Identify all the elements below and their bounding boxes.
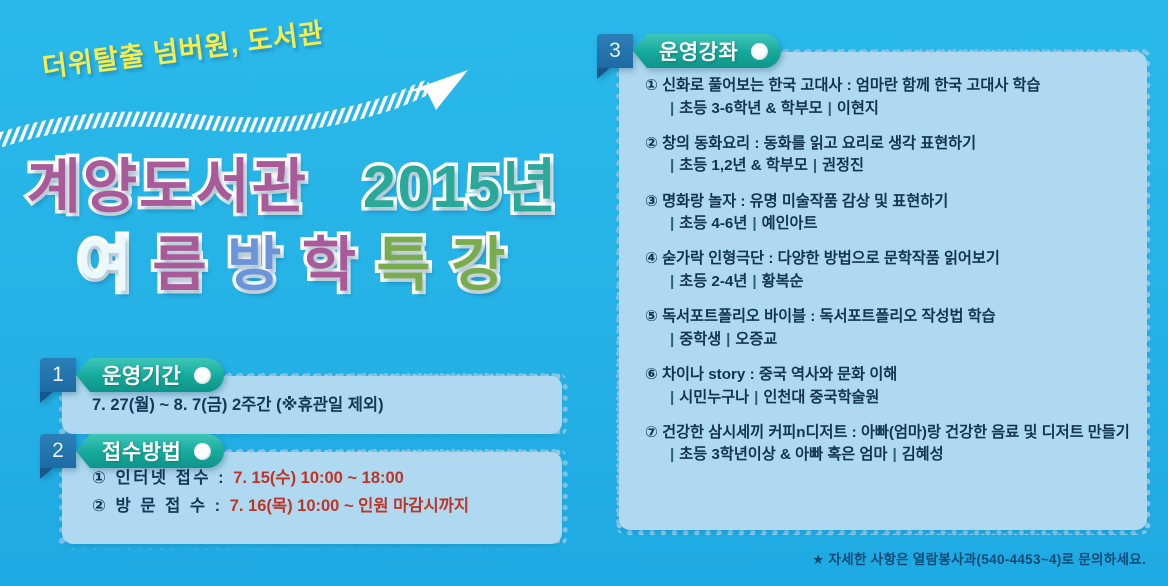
badge-dot-icon [194,367,211,384]
badge-dot-icon [194,443,211,460]
course-meta: |시민누구나|인천대 중국학술원 [645,386,1133,410]
separator-bar-icon: | [823,100,837,117]
course-title: ④ 숟가락 인형극단 : 다양한 방법으로 문학작품 읽어보기 [645,249,1133,270]
registration-label-visit: ② 방 문 접 수 : [92,497,230,515]
separator-bar-icon: | [665,446,679,463]
title-char-3: 방 [227,228,283,304]
course-audience: 초등 1,2년 & 학부모 [679,157,808,174]
operating-period-text: 7. 27(월) ~ 8. 7(금) 2주간 (※휴관일 제외) [92,391,384,419]
title-char-5: 특 [376,228,432,304]
section-label-tab-2: 접수방법 [76,434,224,468]
separator-bar-icon: | [665,273,679,290]
course-instructor: 황복순 [762,273,804,290]
section-number-2: 2 [40,434,76,468]
section-label-1: 운영기간 [102,360,181,390]
badge-dot-icon [751,43,768,60]
section-badge-registration: 2 접수방법 [40,434,224,468]
course-audience: 초등 3-6학년 & 학부모 [679,100,822,117]
title-char-2: 름 [152,228,208,304]
course-meta: |중학생|오증교 [645,328,1133,352]
separator-bar-icon: | [665,389,679,406]
title-char-6: 강 [451,228,507,304]
registration-label-online: ① 인터넷 접수 : [92,469,233,487]
separator-bar-icon: | [665,157,679,174]
course-title: ③ 명화랑 놀자 : 유명 미술작품 감상 및 표현하기 [645,192,1133,213]
course-meta: |초등 4-6년|예인아트 [645,212,1133,236]
course-instructor: 이현지 [837,100,879,117]
left-column: 더위탈출 넘버원, 도서관 계양도서관 2015년 여 름 방 학 특 강 1 … [0,0,585,586]
section-number-1: 1 [40,358,76,392]
tagline-group: 더위탈출 넘버원, 도서관 [30,38,500,143]
course-item: ① 신화로 풀어보는 한국 고대사 : 엄마란 함께 한국 고대사 학습|초등 … [645,76,1133,121]
section-label-tab-3: 운영강좌 [633,34,781,68]
title-line-1: 계양도서관 2015년 [0,150,585,226]
registration-value-online: 7. 15(수) 10:00 ~ 18:00 [233,469,404,487]
course-instructor: 권정진 [822,157,864,174]
separator-bar-icon: | [747,273,761,290]
title-char-1: 여 [78,228,134,304]
footnote-contact: ★ 자세한 사항은 열람봉사과(540-4453~4)로 문의하세요. [812,548,1146,568]
course-item: ④ 숟가락 인형극단 : 다양한 방법으로 문학작품 읽어보기|초등 2-4년|… [645,249,1133,294]
section-label-3: 운영강좌 [659,36,738,66]
course-audience: 초등 3학년이상 & 아빠 혹은 엄마 [679,446,887,463]
course-title: ① 신화로 풀어보는 한국 고대사 : 엄마란 함께 한국 고대사 학습 [645,76,1133,97]
separator-bar-icon: | [747,215,761,232]
registration-value-visit: 7. 16(목) 10:00 ~ 인원 마감시까지 [230,497,469,515]
course-title: ⑤ 독서포트폴리오 바이블 : 독서포트폴리오 작성법 학습 [645,307,1133,328]
course-title: ⑦ 건강한 삼시세끼 커피n디저트 : 아빠(엄마)랑 건강한 음료 및 디저트… [645,423,1133,444]
course-instructor: 오증교 [735,331,777,348]
course-meta: |초등 1,2년 & 학부모|권정진 [645,154,1133,178]
course-instructor: 예인아트 [762,215,818,232]
course-item: ⑥ 차이나 story : 중국 역사와 문화 이해|시민누구나|인천대 중국학… [645,365,1133,410]
course-instructor: 인천대 중국학술원 [763,389,879,406]
separator-bar-icon: | [808,157,822,174]
course-instructor: 김혜성 [902,446,944,463]
registration-line-visit: ② 방 문 접 수 : 7. 16(목) 10:00 ~ 인원 마감시까지 [92,492,562,520]
registration-line-online: ① 인터넷 접수 : 7. 15(수) 10:00 ~ 18:00 [92,464,562,492]
separator-bar-icon: | [665,331,679,348]
section-number-3: 3 [597,34,633,68]
page-title: 계양도서관 2015년 여 름 방 학 특 강 [0,150,585,303]
course-title: ⑥ 차이나 story : 중국 역사와 문화 이해 [645,365,1133,386]
course-item: ③ 명화랑 놀자 : 유명 미술작품 감상 및 표현하기|초등 4-6년|예인아… [645,192,1133,237]
course-audience: 시민누구나 [679,389,749,406]
title-line-2: 여 름 방 학 특 강 [0,228,585,304]
course-item: ② 창의 동화요리 : 동화를 읽고 요리로 생각 표현하기|초등 1,2년 &… [645,134,1133,179]
separator-bar-icon: | [749,389,763,406]
course-audience: 초등 2-4년 [679,273,747,290]
course-meta: |초등 3-6학년 & 학부모|이현지 [645,97,1133,121]
section-badge-courses: 3 운영강좌 [597,34,781,68]
section-label-tab-1: 운영기간 [76,358,224,392]
course-title: ② 창의 동화요리 : 동화를 읽고 요리로 생각 표현하기 [645,134,1133,155]
section-badge-operating-period: 1 운영기간 [40,358,224,392]
separator-bar-icon: | [665,215,679,232]
right-column: 3 운영강좌 ① 신화로 풀어보는 한국 고대사 : 엄마란 함께 한국 고대사… [585,0,1168,586]
course-list: ① 신화로 풀어보는 한국 고대사 : 엄마란 함께 한국 고대사 학습|초등 … [645,76,1133,468]
course-meta: |초등 3학년이상 & 아빠 혹은 엄마|김혜성 [645,443,1133,467]
separator-bar-icon: | [721,331,735,348]
course-meta: |초등 2-4년|황복순 [645,270,1133,294]
title-chunk-kaeyang: 계양도서관 [27,150,308,226]
separator-bar-icon: | [665,100,679,117]
title-char-4: 학 [302,228,358,304]
panel-course-list: ① 신화로 풀어보는 한국 고대사 : 엄마란 함께 한국 고대사 학습|초등 … [619,52,1147,530]
course-item: ⑦ 건강한 삼시세끼 커피n디저트 : 아빠(엄마)랑 건강한 음료 및 디저트… [645,423,1133,468]
separator-bar-icon: | [887,446,901,463]
section-label-2: 접수방법 [102,436,181,466]
course-audience: 초등 4-6년 [679,215,747,232]
course-item: ⑤ 독서포트폴리오 바이블 : 독서포트폴리오 작성법 학습|중학생|오증교 [645,307,1133,352]
course-audience: 중학생 [679,331,721,348]
title-chunk-year: 2015년 [363,150,559,226]
